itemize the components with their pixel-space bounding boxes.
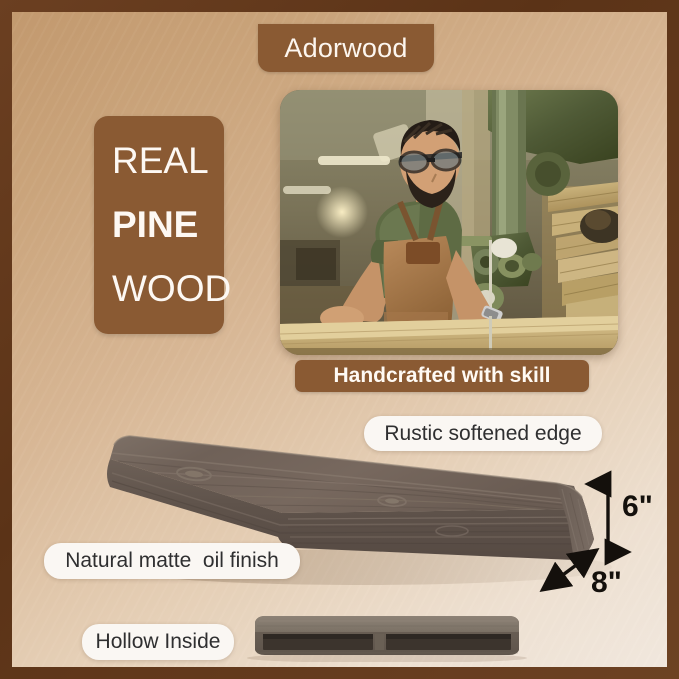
claim-line-real: REAL [112,142,224,179]
hollow-beam-image [237,610,537,662]
product-infographic: Adorwood REAL PINE WOOD [0,0,679,679]
infographic-canvas: Adorwood REAL PINE WOOD [12,12,667,667]
callout-rustic-edge: Rustic softened edge [364,416,602,451]
callout-hollow-inside: Hollow Inside [82,624,234,660]
claim-line-pine: PINE [112,206,224,243]
claim-panel: REAL PINE WOOD [94,116,224,334]
height-dimension-label: 6" [622,490,653,524]
photo-caption: Handcrafted with skill [295,360,589,392]
callout-oil-finish-text: Natural matte oil finish [65,549,279,573]
photo-caption-text: Handcrafted with skill [333,364,550,388]
depth-dimension-label: 8" [591,566,622,600]
brand-label: Adorwood [258,24,434,72]
callout-rustic-edge-text: Rustic softened edge [384,422,581,446]
workshop-photo [280,90,618,355]
callout-hollow-inside-text: Hollow Inside [96,630,221,654]
brand-name: Adorwood [284,33,407,64]
claim-line-wood: WOOD [112,270,224,307]
callout-oil-finish: Natural matte oil finish [44,543,300,579]
